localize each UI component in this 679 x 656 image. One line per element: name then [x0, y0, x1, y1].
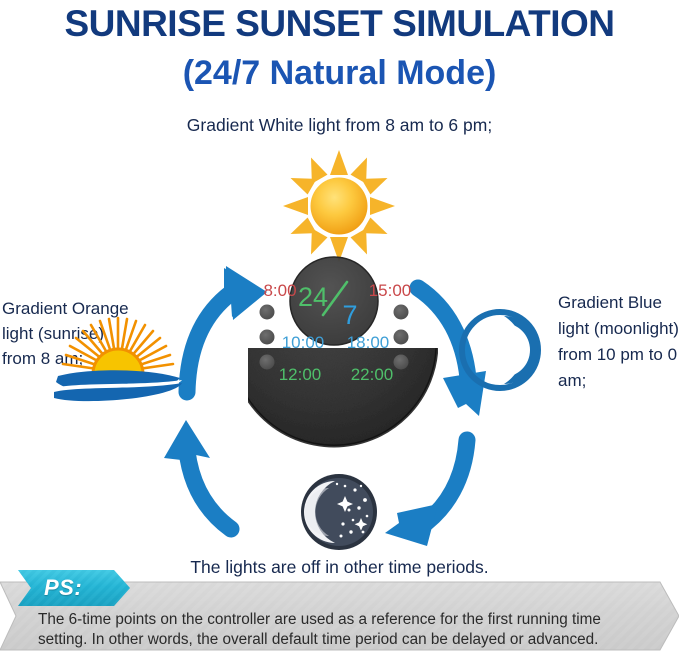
center-24: 24 — [298, 282, 328, 312]
time-label-8-00: 8:00 — [263, 281, 296, 300]
controller-button[interactable] — [260, 330, 275, 345]
controller-button[interactable] — [260, 305, 275, 320]
sunrise-ocean-icon — [54, 318, 182, 401]
sun-icon — [283, 150, 395, 262]
time-label-15-00: 15:00 — [369, 281, 412, 300]
time-label-22-00: 22:00 — [351, 365, 394, 384]
controller-button[interactable] — [260, 355, 275, 370]
controller-buttons-right — [394, 305, 409, 370]
curved-arrow-down-left-icon — [385, 440, 467, 546]
ps-note-text: The 6-time points on the controller are … — [38, 610, 652, 650]
controller-button[interactable] — [394, 355, 409, 370]
controller-device: 24 7 8:00 15:00 10:00 18:00 12:00 22:00 — [231, 240, 437, 446]
page-title: SUNRISE SUNSET SIMULATION (24/7 Natural … — [0, 0, 679, 94]
caption-white-light: Gradient White light from 8 am to 6 pm; — [0, 114, 679, 137]
ps-note: PS: The 6-time points on the controller … — [0, 570, 679, 656]
curved-arrow-up-left-icon — [164, 420, 231, 529]
ps-label: PS: — [44, 575, 82, 601]
time-label-12-00: 12:00 — [279, 365, 322, 384]
moon-outline-icon — [462, 312, 538, 388]
center-7: 7 — [342, 300, 357, 330]
title-line-2: (24/7 Natural Mode) — [0, 52, 679, 94]
time-label-10-00: 10:00 — [282, 333, 325, 352]
night-moon-stars-icon — [301, 474, 377, 550]
cycle-diagram: 24 7 8:00 15:00 10:00 18:00 12:00 22:00 — [0, 140, 679, 550]
time-label-18-00: 18:00 — [347, 333, 390, 352]
controller-button[interactable] — [394, 305, 409, 320]
controller-buttons-left — [260, 305, 275, 370]
controller-button[interactable] — [394, 330, 409, 345]
title-line-1: SUNRISE SUNSET SIMULATION — [0, 2, 679, 46]
